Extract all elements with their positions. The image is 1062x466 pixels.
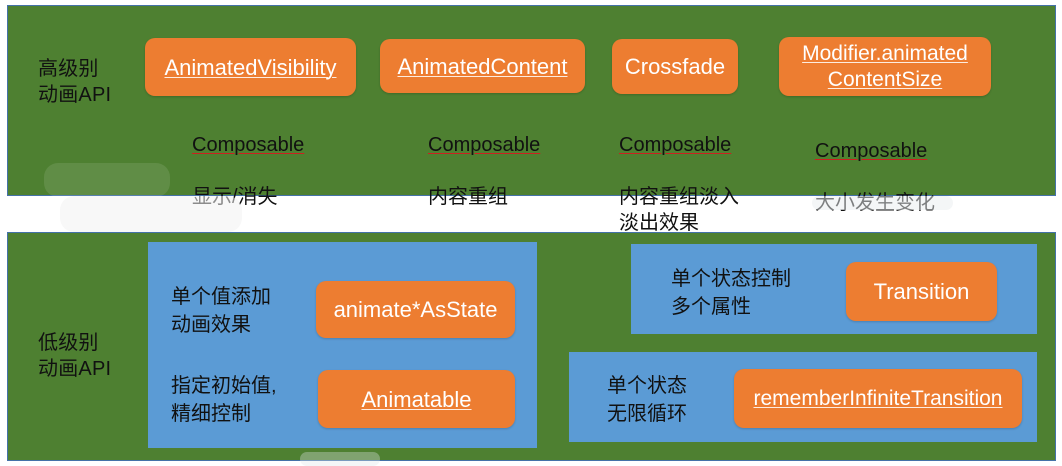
row-description-infinite-loop: 单个状态 无限循环 <box>607 372 687 428</box>
caption-desc-label: 大小发生变化 <box>815 190 935 216</box>
caption-animated-content: Composable 内容重组 <box>428 106 540 236</box>
caption-kind-label: Composable <box>619 132 739 158</box>
chip-modifier-animated-content-size[interactable]: Modifier.animated ContentSize <box>779 37 991 96</box>
low-level-tier-label: 低级别 动画API <box>38 330 111 382</box>
caption-kind-label: Composable <box>192 132 304 158</box>
chip-crossfade[interactable]: Crossfade <box>612 39 738 94</box>
caption-animated-visibility: Composable 显示/消失 <box>192 106 304 236</box>
chip-animatable[interactable]: Animatable <box>318 370 515 428</box>
row-description-initial-value: 指定初始值, 精细控制 <box>171 372 277 428</box>
caption-desc-label: 显示/消失 <box>192 184 304 210</box>
chip-animated-visibility[interactable]: AnimatedVisibility <box>145 38 356 96</box>
chip-remember-infinite-transition[interactable]: rememberInfiniteTransition <box>734 369 1022 428</box>
diagram-canvas: 高级别 动画API AnimatedVisibility AnimatedCon… <box>0 0 1062 464</box>
chip-animated-content[interactable]: AnimatedContent <box>380 39 585 93</box>
caption-desc-label: 内容重组 <box>428 184 540 210</box>
row-description-single-value: 单个值添加 动画效果 <box>171 283 271 339</box>
row-description-multi-property: 单个状态控制 多个属性 <box>671 265 791 321</box>
caption-kind-label: Composable <box>815 138 935 164</box>
chip-animate-as-state[interactable]: animate*AsState <box>316 281 515 338</box>
caption-modifier-animated-content-size: Composable 大小发生变化 <box>815 112 935 242</box>
chip-transition[interactable]: Transition <box>846 262 997 321</box>
high-level-tier-label: 高级别 动画API <box>38 56 111 108</box>
caption-desc-label: 内容重组淡入 淡出效果 <box>619 184 739 236</box>
caption-kind-label: Composable <box>428 132 540 158</box>
